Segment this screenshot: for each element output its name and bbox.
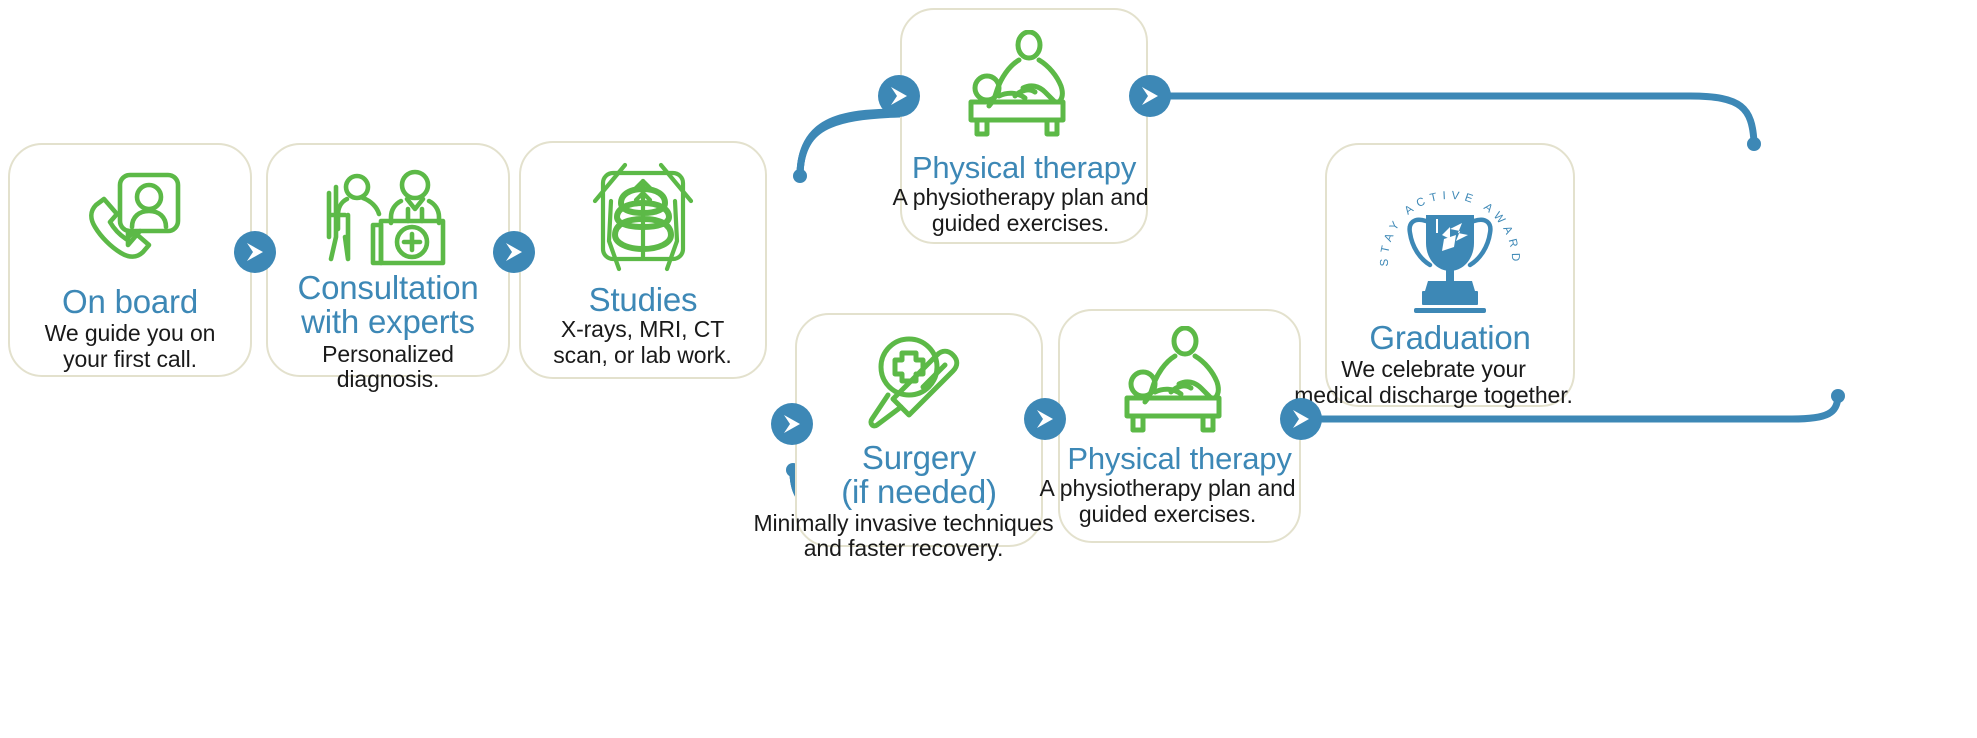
step-title: Studies xyxy=(521,283,765,317)
chevron-right-icon xyxy=(780,413,804,435)
chevron-right-icon xyxy=(1033,408,1057,430)
curve-studies-to-pt-top-b xyxy=(800,114,892,176)
step-title: On board xyxy=(10,285,250,319)
step-card-physical-therapy-top[interactable]: Physical therapy A physiotherapy plan an… xyxy=(900,8,1148,244)
connector-end-dot-graduation-bottom xyxy=(1831,389,1845,403)
connector-arrow-studies-to-surgery[interactable] xyxy=(771,403,813,445)
step-title: Surgery (if needed) xyxy=(797,441,1041,510)
step-title: Graduation xyxy=(1327,321,1573,355)
step-title: Consultation with experts xyxy=(268,271,508,340)
chevron-right-icon xyxy=(887,85,911,107)
connector-arrow-physical-therapy-to-graduation[interactable] xyxy=(1129,75,1171,117)
chevron-right-icon xyxy=(243,241,267,263)
step-card-graduation[interactable]: STAY ACTIVE AWARD xyxy=(1325,143,1575,407)
step-card-consultation-with-experts[interactable]: Consultation with experts Personalized d… xyxy=(266,143,510,377)
stay-active-award-trophy-icon: STAY ACTIVE AWARD xyxy=(1327,169,1573,315)
curve-studies-up-to-arrow3 xyxy=(800,112,900,177)
step-card-on-board[interactable]: On board We guide you on your first call… xyxy=(8,143,252,377)
connector-arrow-physical-therapy-bottom-to-graduation[interactable] xyxy=(1280,398,1322,440)
connector-origin-dot-studies-top xyxy=(793,169,807,183)
connector-arrow-consultation-to-studies[interactable] xyxy=(493,231,535,273)
connector-end-dot-graduation-top xyxy=(1747,137,1761,151)
physiotherapy-massage-table-icon xyxy=(1060,327,1299,437)
curve-pt-top-to-graduation xyxy=(1170,96,1754,142)
chevron-right-icon xyxy=(1138,85,1162,107)
step-description: A physiotherapy plan and guided exercise… xyxy=(890,185,1152,237)
step-description: We celebrate your medical discharge toge… xyxy=(1276,357,1592,409)
step-description: Minimally invasive techniques and faster… xyxy=(749,511,1059,563)
step-card-physical-therapy-bottom[interactable]: Physical therapy A physiotherapy plan an… xyxy=(1058,309,1301,543)
scalpel-medical-cross-icon xyxy=(797,331,1041,439)
step-card-studies[interactable]: Studies X-rays, MRI, CT scan, or lab wor… xyxy=(519,141,767,379)
step-card-surgery-if-needed[interactable]: Surgery (if needed) Minimally invasive t… xyxy=(795,313,1043,547)
curve-studies-to-pt-top xyxy=(800,114,900,176)
phone-with-video-consult-icon xyxy=(10,161,250,279)
xray-ribcage-icon xyxy=(521,157,765,279)
physiotherapy-massage-table-icon xyxy=(902,26,1146,146)
chevron-right-icon xyxy=(1289,408,1313,430)
flow-diagram-canvas: On board We guide you on your first call… xyxy=(0,0,1977,738)
connector-arrow-onboard-to-consultation[interactable] xyxy=(234,231,276,273)
step-description: Personalized diagnosis. xyxy=(268,342,508,394)
connector-arrow-surgery-to-physical-therapy[interactable] xyxy=(1024,398,1066,440)
step-title: Physical therapy xyxy=(1060,443,1299,475)
step-description: X-rays, MRI, CT scan, or lab work. xyxy=(518,317,768,369)
doctor-patient-desk-consultation-icon xyxy=(268,165,508,269)
step-description: A physiotherapy plan and guided exercise… xyxy=(1023,476,1313,528)
step-description: We guide you on your first call. xyxy=(10,321,250,373)
chevron-right-icon xyxy=(502,241,526,263)
connector-arrow-studies-to-physical-therapy[interactable] xyxy=(878,75,920,117)
step-title: Physical therapy xyxy=(902,152,1146,184)
